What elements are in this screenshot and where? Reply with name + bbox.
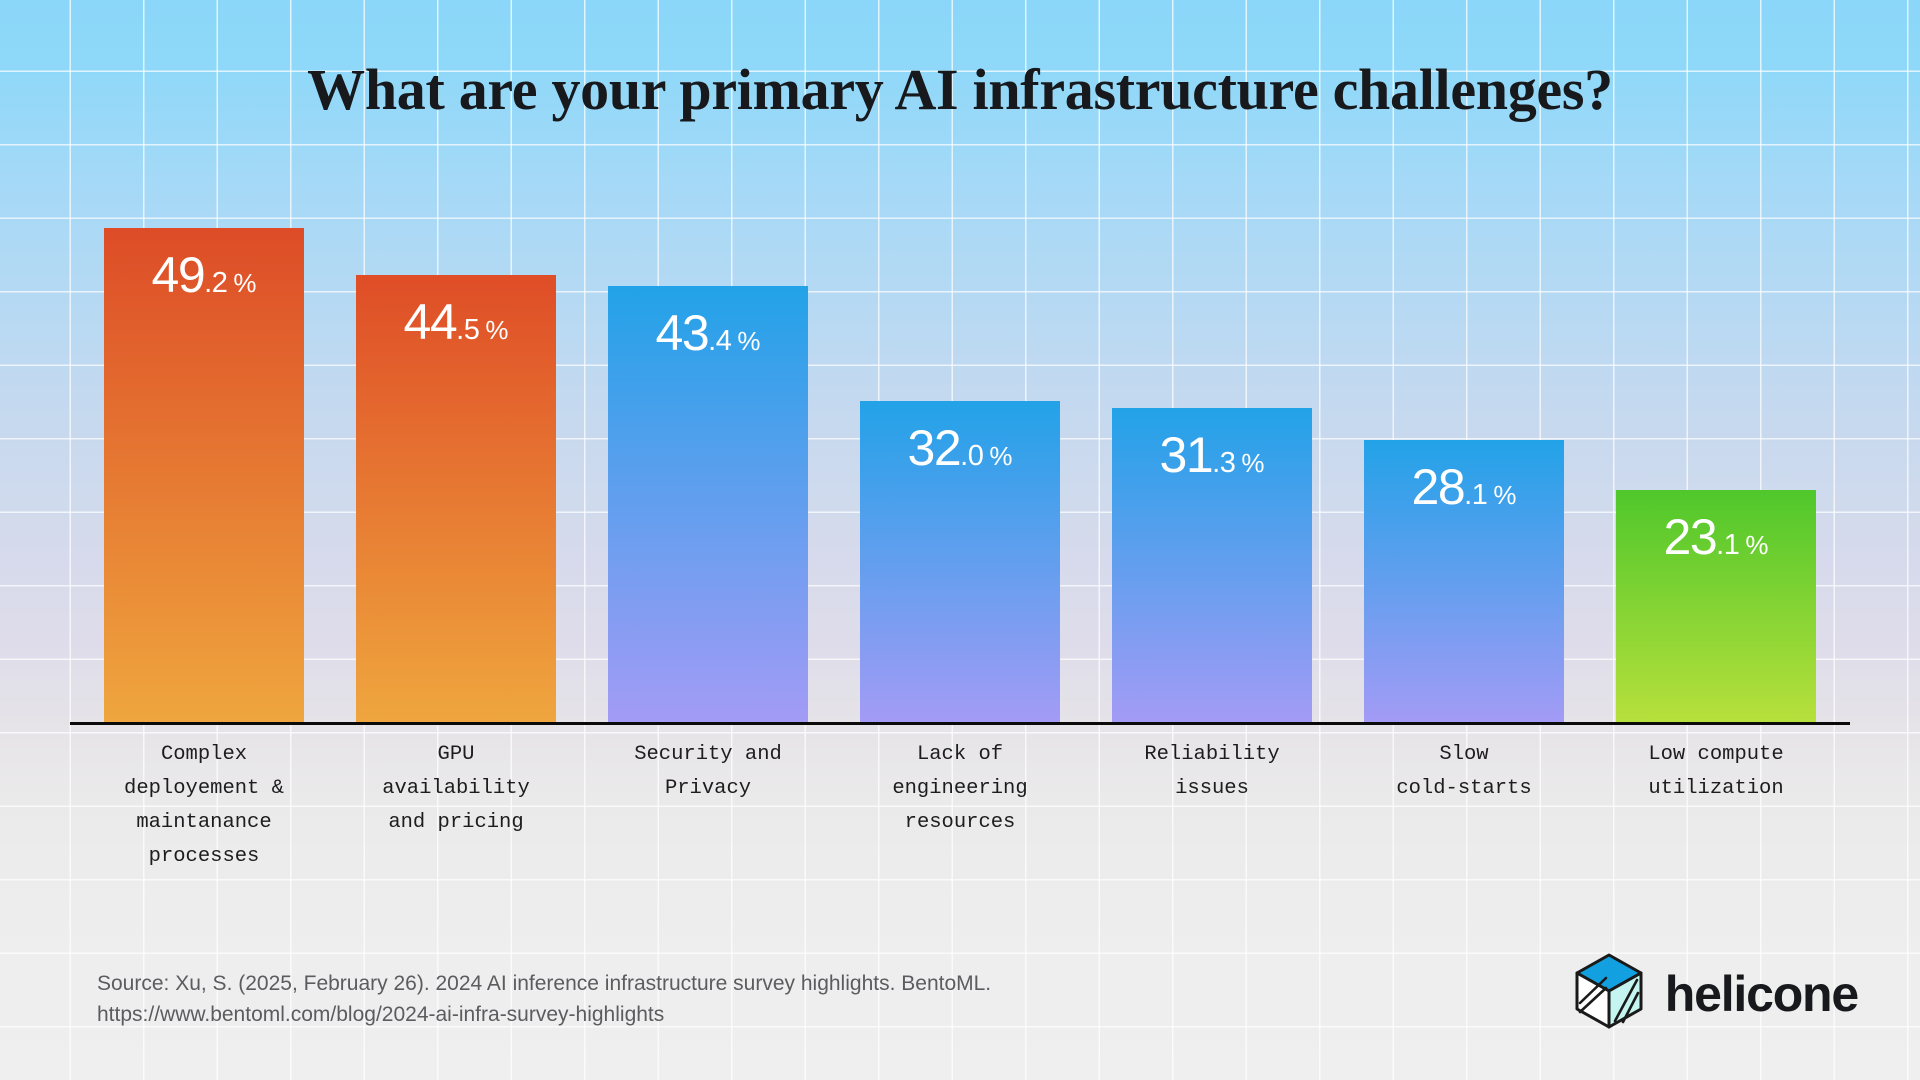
bar-slot: 32.0% — [834, 150, 1086, 722]
bar-value-decimal: .1 — [1716, 531, 1739, 560]
bar-value-label: 49.2% — [152, 250, 257, 300]
bar-value-decimal: .3 — [1212, 449, 1235, 478]
bar-value-label: 23.1% — [1664, 512, 1769, 562]
infographic-poster: What are your primary AI infrastructure … — [0, 0, 1920, 1080]
category-label-low-compute-utilization: Low compute utilization — [1590, 738, 1842, 874]
bar-low-compute-utilization[interactable]: 23.1% — [1616, 490, 1816, 722]
bar-slot: 28.1% — [1338, 150, 1590, 722]
bar-value-percent-sign: % — [989, 443, 1012, 469]
bar-value-decimal: .4 — [708, 327, 731, 356]
bar-security-privacy[interactable]: 43.4% — [608, 286, 808, 722]
category-label-security-privacy: Security and Privacy — [582, 738, 834, 874]
bar-value-integer: 31 — [1160, 430, 1213, 480]
category-label-lack-engineering-resources: Lack of engineering resources — [834, 738, 1086, 874]
bar-slot: 23.1% — [1590, 150, 1842, 722]
bar-value-decimal: .5 — [456, 316, 479, 345]
bar-slot: 44.5% — [330, 150, 582, 722]
bar-value-percent-sign: % — [1241, 450, 1264, 476]
bar-complex-deployment[interactable]: 49.2% — [104, 228, 304, 722]
bar-series: 49.2% 44.5% 43.4% — [78, 150, 1842, 722]
bar-lack-engineering-resources[interactable]: 32.0% — [860, 401, 1060, 722]
bar-value-label: 43.4% — [656, 308, 761, 358]
bar-value-percent-sign: % — [485, 317, 508, 343]
bar-reliability-issues[interactable]: 31.3% — [1112, 408, 1312, 722]
bar-value-integer: 23 — [1664, 512, 1717, 562]
bar-slot: 31.3% — [1086, 150, 1338, 722]
bar-value-integer: 49 — [152, 250, 205, 300]
bar-value-percent-sign: % — [737, 328, 760, 354]
bar-chart-plot-area: 49.2% 44.5% 43.4% — [78, 150, 1842, 722]
bar-value-decimal: .1 — [1464, 481, 1487, 510]
bar-value-decimal: .0 — [960, 442, 983, 471]
x-axis-category-labels: Complex deployement & maintanance proces… — [78, 738, 1842, 874]
helicone-wordmark: helicone — [1665, 965, 1858, 1023]
source-citation: Source: Xu, S. (2025, February 26). 2024… — [97, 968, 991, 1030]
helicone-logo[interactable]: helicone — [1573, 952, 1858, 1035]
bar-value-label: 44.5% — [404, 297, 509, 347]
bar-slow-cold-starts[interactable]: 28.1% — [1364, 440, 1564, 722]
category-label-gpu-availability: GPU availability and pricing — [330, 738, 582, 874]
page-title: What are your primary AI infrastructure … — [0, 58, 1920, 122]
bar-value-integer: 44 — [404, 297, 457, 347]
bar-value-percent-sign: % — [1745, 532, 1768, 558]
category-label-complex-deployment: Complex deployement & maintanance proces… — [78, 738, 330, 874]
category-label-reliability-issues: Reliability issues — [1086, 738, 1338, 874]
bar-value-percent-sign: % — [233, 270, 256, 296]
bar-value-percent-sign: % — [1493, 482, 1516, 508]
bar-value-integer: 32 — [908, 423, 961, 473]
bar-gpu-availability[interactable]: 44.5% — [356, 275, 556, 722]
category-label-slow-cold-starts: Slow cold-starts — [1338, 738, 1590, 874]
bar-slot: 49.2% — [78, 150, 330, 722]
bar-value-integer: 43 — [656, 308, 709, 358]
helicone-cube-icon — [1573, 952, 1645, 1035]
x-axis-line — [70, 722, 1850, 725]
bar-value-label: 32.0% — [908, 423, 1013, 473]
bar-value-decimal: .2 — [204, 269, 227, 298]
bar-value-label: 28.1% — [1412, 462, 1517, 512]
bar-slot: 43.4% — [582, 150, 834, 722]
bar-value-label: 31.3% — [1160, 430, 1265, 480]
bar-value-integer: 28 — [1412, 462, 1465, 512]
